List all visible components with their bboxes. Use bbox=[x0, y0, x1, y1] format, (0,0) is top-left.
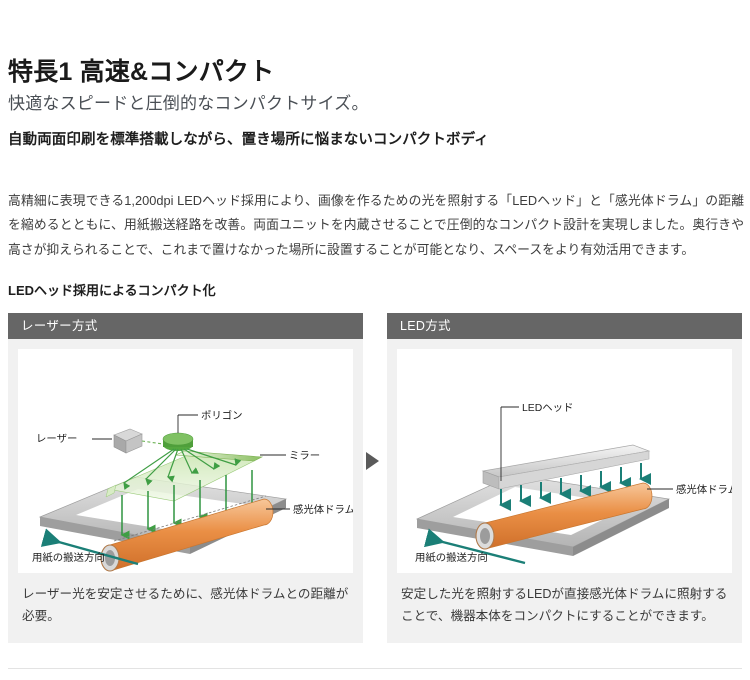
label-mirror: ミラー bbox=[289, 450, 320, 462]
panel-laser-method: レーザー方式 bbox=[8, 313, 363, 643]
body-paragraph: 高精細に表現できる1,200dpi LEDヘッド採用により、画像を作るための光を… bbox=[8, 189, 744, 263]
label-paper-direction: 用紙の搬送方向 bbox=[32, 551, 105, 564]
feature-page: 特長1 高速&コンパクト 快適なスピードと圧倒的なコンパクトサイズ。 自動両面印… bbox=[0, 0, 750, 680]
lead-heading: 自動両面印刷を標準搭載しながら、置き場所に悩まないコンパクトボディ bbox=[8, 128, 489, 149]
label-drum: 感光体ドラム bbox=[676, 483, 732, 496]
label-polygon: ポリゴン bbox=[201, 409, 243, 422]
panel-laser-caption: レーザー光を安定させるために、感光体ドラムとの距離が必要。 bbox=[8, 573, 363, 643]
label-drum: 感光体ドラム bbox=[293, 503, 353, 516]
panel-led-title: LED方式 bbox=[387, 313, 742, 339]
panel-led-caption: 安定した光を照射するLEDが直接感光体ドラムに照射することで、機器本体をコンパク… bbox=[387, 573, 742, 643]
polygon-mirror bbox=[163, 433, 193, 451]
label-laser: レーザー bbox=[36, 433, 77, 445]
label-led-head: LEDヘッド bbox=[522, 403, 573, 414]
page-title: 特長1 高速&コンパクト bbox=[8, 59, 274, 87]
page-subtitle: 快適なスピードと圧倒的なコンパクトサイズ。 bbox=[8, 89, 369, 114]
panel-laser-title: レーザー方式 bbox=[8, 313, 363, 339]
label-paper-direction: 用紙の搬送方向 bbox=[415, 551, 488, 564]
panel-led-method: LED方式 bbox=[387, 313, 742, 643]
figure-led-diagram: LEDヘッド 感光体ドラム 用紙の搬送方向 bbox=[397, 349, 732, 573]
led-head-bar bbox=[483, 445, 649, 489]
comparison-arrow-icon bbox=[366, 452, 379, 470]
laser-source bbox=[114, 429, 142, 453]
bottom-divider bbox=[8, 668, 742, 669]
figure-laser-diagram: レーザー ポリゴン ミラー 感光体ドラム 用紙の搬送方向 bbox=[18, 349, 353, 573]
section-label: LEDヘッド採用によるコンパクト化 bbox=[8, 280, 216, 299]
